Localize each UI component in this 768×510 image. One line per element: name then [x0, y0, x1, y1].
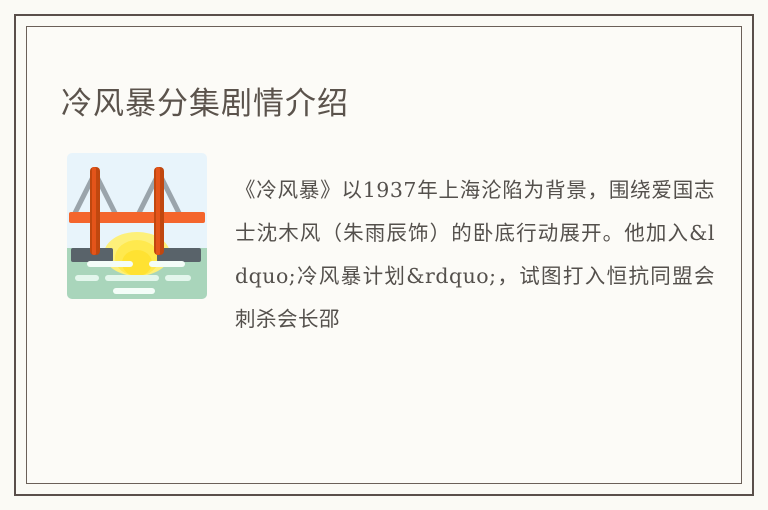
page-content: 冷风暴分集剧情介绍: [27, 27, 741, 483]
page-title: 冷风暴分集剧情介绍: [61, 86, 349, 123]
article-body: 《冷风暴》以1937年上海沦陷为背景，围绕爱国志士沈木风（朱雨辰饰）的卧底行动展…: [61, 139, 715, 463]
article-thumbnail: [61, 151, 213, 303]
suspension-bridge-sunset-icon: [61, 151, 213, 303]
page-frame-inner: 冷风暴分集剧情介绍: [26, 26, 742, 484]
page-frame-outer: 冷风暴分集剧情介绍: [14, 14, 754, 496]
